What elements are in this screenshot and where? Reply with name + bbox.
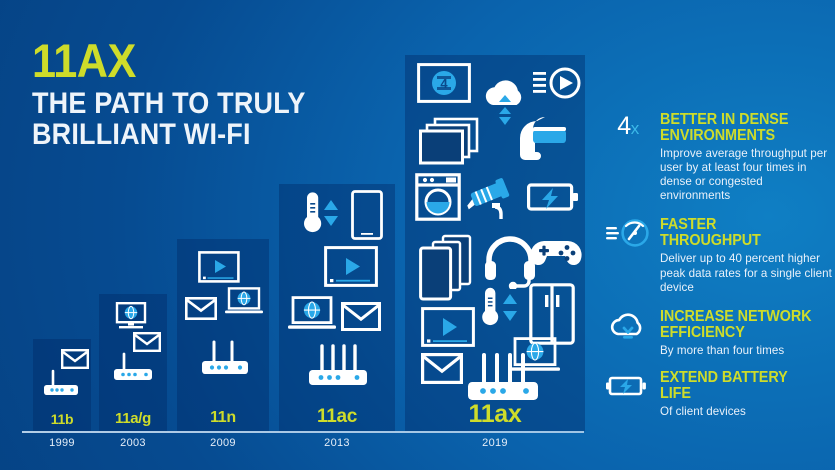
thermostat-icon <box>290 192 344 238</box>
multiplier-badge: 4x <box>604 114 652 148</box>
year-label-2019: 2019 <box>405 437 585 449</box>
video-player-icon <box>421 307 475 347</box>
desktop-globe-icon <box>113 302 149 332</box>
year-label-1999: 1999 <box>33 437 91 449</box>
bar-label-11ag: 11a/g <box>99 410 167 427</box>
year-label-2009: 2009 <box>177 437 269 449</box>
security-camera-icon <box>465 177 523 221</box>
vr-headset-icon <box>509 113 571 163</box>
router-icon <box>111 352 155 384</box>
feature-description: Improve average throughput per user by a… <box>660 147 832 204</box>
cloud-download-icon <box>604 311 652 345</box>
multi-screen-icon <box>419 117 479 167</box>
laptop-globe-icon <box>224 287 264 317</box>
envelope-icon <box>185 297 217 320</box>
feature-increase-network-efficiency: INCREASE NETWORK EFFICIENCY By more than… <box>604 309 832 358</box>
bar-label-11ac: 11ac <box>279 406 395 428</box>
multiplier-value: 4 <box>617 112 630 140</box>
feature-description: By more than four times <box>660 344 832 358</box>
multi-phone-icon <box>419 233 475 301</box>
envelope-icon <box>61 349 89 369</box>
feature-description: Deliver up to 40 percent higher peak dat… <box>660 252 832 294</box>
feature-faster-throughput: FASTER THROUGHPUT Deliver up to 40 perce… <box>604 217 832 294</box>
router-icon <box>41 369 81 399</box>
infographic-canvas: 11AX THE PATH TO TRULY BRILLIANT WI-FI <box>0 0 835 470</box>
feature-extend-battery-life: EXTEND BATTERY LIFE Of client devices <box>604 370 832 419</box>
bar-column-11ax: 4 <box>405 55 585 431</box>
washing-machine-icon <box>415 173 461 221</box>
tv-streaming-icon: 4 <box>417 63 471 103</box>
bar-label-11ax: 11ax <box>405 400 585 429</box>
video-player-icon <box>198 251 240 283</box>
benefits-panel: 4x BETTER IN DENSE ENVIRONMENTS Improve … <box>604 112 832 428</box>
bar-column-11b: 11b <box>33 339 91 431</box>
laptop-globe-icon <box>287 296 337 333</box>
feature-better-in-dense-environments: 4x BETTER IN DENSE ENVIRONMENTS Improve … <box>604 112 832 203</box>
envelope-icon <box>421 353 463 384</box>
battery-charge-icon <box>527 181 579 213</box>
bar-label-11n: 11n <box>177 409 269 427</box>
bar-column-11ac: 11ac <box>279 184 395 431</box>
tablet-icon <box>351 190 383 240</box>
video-player-icon <box>324 246 378 287</box>
feature-title: INCREASE NETWORK EFFICIENCY <box>660 309 820 341</box>
wifi-generation-bar-chart: 11b <box>0 0 600 470</box>
playlist-video-icon <box>533 67 581 101</box>
battery-charge-icon <box>604 374 652 408</box>
bar-column-11ag: 11a/g <box>99 294 167 431</box>
svg-text:4: 4 <box>440 76 448 91</box>
bar-label-11b: 11b <box>33 411 91 427</box>
year-label-2003: 2003 <box>99 437 167 449</box>
game-controller-icon <box>529 237 583 273</box>
feature-title: EXTEND BATTERY LIFE <box>660 370 820 402</box>
thermostat-icon <box>475 287 523 333</box>
year-label-2013: 2013 <box>279 437 395 449</box>
timeline-axis <box>22 431 584 433</box>
refrigerator-icon <box>529 283 575 345</box>
feature-title: FASTER THROUGHPUT <box>660 217 820 249</box>
speedometer-icon <box>604 219 652 253</box>
multiplier-suffix: x <box>631 119 639 138</box>
bar-column-11n: 11n <box>177 239 269 431</box>
envelope-icon <box>133 332 161 352</box>
router-icon <box>305 342 371 392</box>
router-icon <box>199 339 251 379</box>
feature-description: Of client devices <box>660 405 832 419</box>
feature-title: BETTER IN DENSE ENVIRONMENTS <box>660 112 820 144</box>
envelope-icon <box>341 302 381 331</box>
